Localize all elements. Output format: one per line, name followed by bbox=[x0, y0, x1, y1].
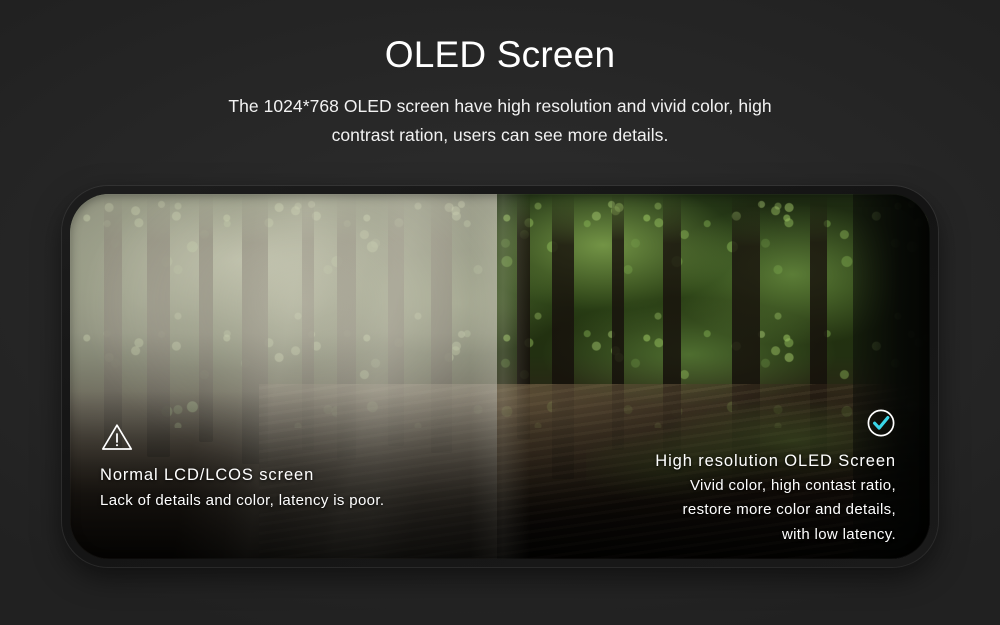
device-screen: Normal LCD/LCOS screen Lack of details a… bbox=[70, 194, 930, 559]
subtitle-line-2: contrast ration, users can see more deta… bbox=[0, 121, 1000, 150]
promo-banner: OLED Screen The 1024*768 OLED screen hav… bbox=[0, 0, 1000, 625]
subtitle-line-1: The 1024*768 OLED screen have high resol… bbox=[0, 92, 1000, 121]
caption-oled-line-2: restore more color and details, bbox=[655, 498, 896, 522]
device-bezel: Normal LCD/LCOS screen Lack of details a… bbox=[62, 186, 938, 567]
caption-oled: High resolution OLED Screen Vivid color,… bbox=[655, 408, 896, 547]
caption-lcd: Normal LCD/LCOS screen Lack of details a… bbox=[100, 422, 384, 513]
header: OLED Screen The 1024*768 OLED screen hav… bbox=[0, 34, 1000, 150]
page-title: OLED Screen bbox=[0, 34, 1000, 75]
caption-lcd-line-1: Lack of details and color, latency is po… bbox=[100, 489, 384, 513]
page-subtitle: The 1024*768 OLED screen have high resol… bbox=[0, 92, 1000, 150]
check-circle-icon bbox=[655, 408, 896, 443]
warning-triangle-icon bbox=[100, 422, 384, 457]
caption-oled-body: Vivid color, high contast ratio, restore… bbox=[655, 474, 896, 547]
caption-lcd-body: Lack of details and color, latency is po… bbox=[100, 489, 384, 513]
caption-oled-line-1: Vivid color, high contast ratio, bbox=[655, 474, 896, 498]
caption-oled-line-3: with low latency. bbox=[655, 523, 896, 547]
caption-oled-heading: High resolution OLED Screen bbox=[655, 449, 896, 475]
caption-lcd-heading: Normal LCD/LCOS screen bbox=[100, 463, 384, 489]
